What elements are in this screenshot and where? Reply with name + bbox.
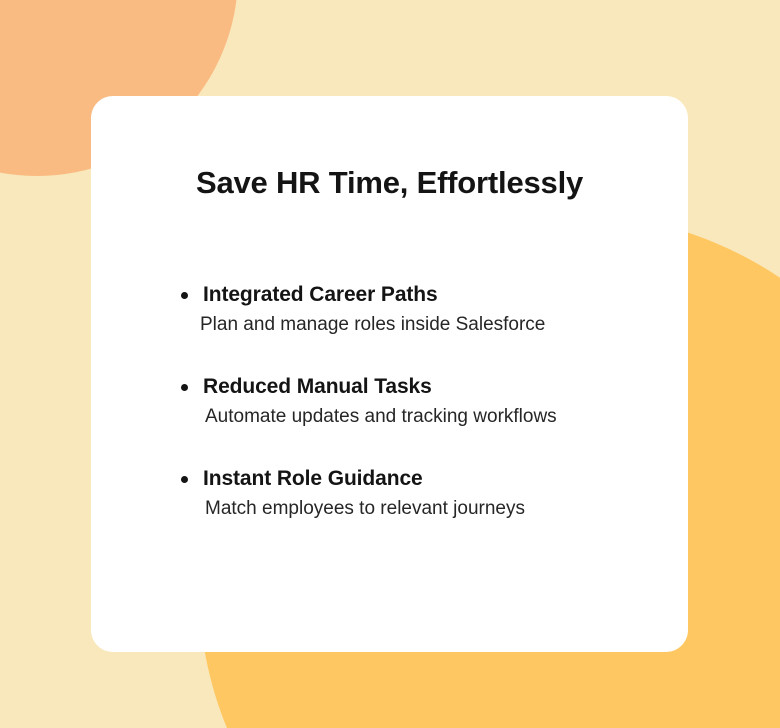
list-item: Integrated Career Paths Plan and manage … bbox=[91, 282, 688, 337]
feature-heading: Integrated Career Paths bbox=[203, 282, 688, 308]
bullet-dot-icon bbox=[181, 384, 188, 391]
promo-card-canvas: Save HR Time, Effortlessly Integrated Ca… bbox=[0, 0, 780, 728]
list-item: Instant Role Guidance Match employees to… bbox=[91, 466, 688, 521]
feature-description: Plan and manage roles inside Salesforce bbox=[200, 313, 688, 337]
feature-card: Save HR Time, Effortlessly Integrated Ca… bbox=[91, 96, 688, 652]
feature-description: Automate updates and tracking workflows bbox=[205, 405, 688, 429]
bullet-dot-icon bbox=[181, 292, 188, 299]
feature-description: Match employees to relevant journeys bbox=[205, 497, 688, 521]
bullet-dot-icon bbox=[181, 476, 188, 483]
feature-list: Integrated Career Paths Plan and manage … bbox=[91, 282, 688, 521]
list-item: Reduced Manual Tasks Automate updates an… bbox=[91, 374, 688, 429]
page-title: Save HR Time, Effortlessly bbox=[91, 164, 688, 202]
feature-heading: Instant Role Guidance bbox=[203, 466, 688, 492]
feature-heading: Reduced Manual Tasks bbox=[203, 374, 688, 400]
